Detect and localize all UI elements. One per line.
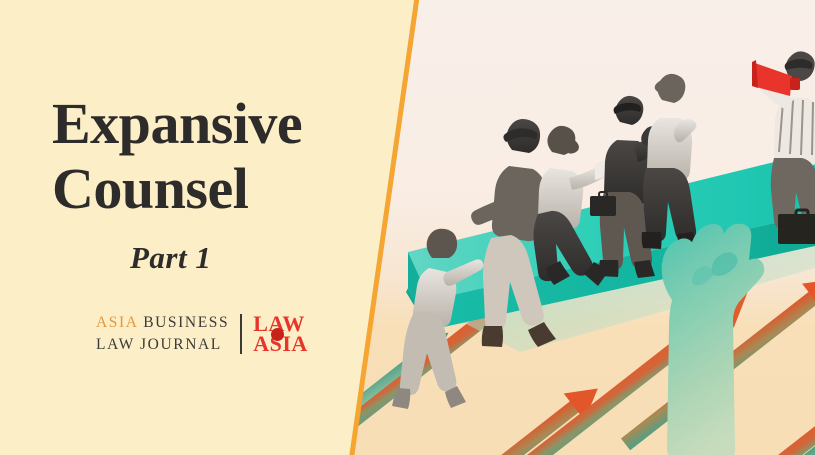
publication-logo: ASIA BUSINESS LAW JOURNAL LAW ASIA — [96, 312, 308, 357]
part-label: Part 1 — [130, 240, 382, 276]
promo-banner: Expansive Counsel Part 1 ASIA BUSINESS L… — [0, 0, 815, 455]
hand-shape — [662, 224, 765, 455]
logo-business-word: BUSINESS — [143, 314, 229, 331]
logo-row-2: LAW JOURNAL — [96, 334, 229, 356]
logo-divider — [240, 314, 242, 354]
title-line-1: Expansive — [52, 96, 382, 153]
title-line-2: Counsel — [52, 161, 382, 218]
logo-row-1: ASIA BUSINESS — [96, 312, 229, 334]
logo-wordmark: ASIA BUSINESS LAW JOURNAL — [96, 312, 229, 357]
lawasia-mark: LAW ASIA — [253, 314, 308, 354]
title-block: Expansive Counsel Part 1 — [52, 96, 382, 276]
logo-asia-word: ASIA — [96, 314, 138, 331]
